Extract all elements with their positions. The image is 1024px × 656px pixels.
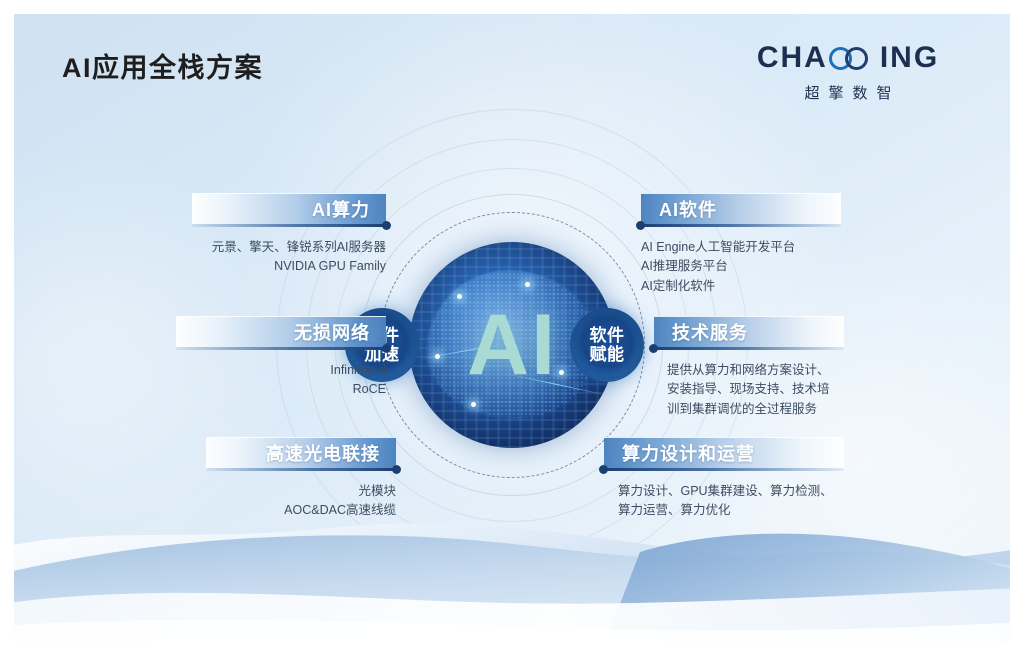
- slide-canvas: AI应用全栈方案 CHA ING 超擎数智 AI 硬件: [0, 0, 1024, 656]
- item-endpoint-dot: [382, 344, 391, 353]
- item-ai-compute[interactable]: AI算力 元景、擎天、锋锐系列AI服务器 NVIDIA GPU Family: [192, 193, 386, 277]
- desc-line: AI推理服务平台: [641, 257, 841, 276]
- badge-line-1: 软件: [590, 326, 625, 345]
- item-description: InfiniBand RoCE: [176, 361, 386, 400]
- item-underline: [641, 224, 841, 227]
- item-bar[interactable]: 无损网络: [176, 316, 386, 347]
- item-compute-design-operation[interactable]: 算力设计和运营 算力设计、GPU集群建设、算力检测、 算力运营、算力优化: [604, 437, 844, 521]
- item-bar[interactable]: AI算力: [192, 193, 386, 224]
- item-description: AI Engine人工智能开发平台 AI推理服务平台 AI定制化软件: [641, 238, 841, 296]
- desc-line: 算力设计、GPU集群建设、算力检测、: [618, 482, 844, 501]
- page-title: AI应用全栈方案: [62, 46, 263, 85]
- item-bar[interactable]: AI软件: [641, 193, 841, 224]
- infinity-double-circle-icon: [829, 45, 879, 71]
- item-technical-service[interactable]: 技术服务 提供从算力和网络方案设计、 安装指导、现场支持、技术培 训到集群调优的…: [654, 316, 844, 419]
- desc-line: RoCE: [176, 380, 386, 399]
- logo-chinese-name: 超擎数智: [748, 82, 948, 103]
- item-underline: [176, 347, 386, 350]
- spark-node: [457, 294, 462, 299]
- desc-line: 提供从算力和网络方案设计、: [667, 361, 844, 380]
- item-lossless-network[interactable]: 无损网络 InfiniBand RoCE: [176, 316, 386, 400]
- spark-node: [471, 402, 476, 407]
- item-endpoint-dot: [649, 344, 658, 353]
- item-description: 光模块 AOC&DAC高速线缆: [206, 482, 396, 521]
- brand-logo: CHA ING 超擎数智: [748, 42, 948, 103]
- desc-line: InfiniBand: [176, 361, 386, 380]
- item-underline: [654, 347, 844, 350]
- item-bar[interactable]: 算力设计和运营: [604, 437, 844, 468]
- desc-line: 元景、擎天、锋锐系列AI服务器: [192, 238, 386, 257]
- desc-line: AOC&DAC高速线缆: [206, 501, 396, 520]
- item-endpoint-dot: [392, 465, 401, 474]
- item-label: AI软件: [659, 196, 717, 222]
- logo-wordmark: CHA ING: [748, 42, 948, 74]
- item-endpoint-dot: [636, 221, 645, 230]
- desc-line: 训到集群调优的全过程服务: [667, 400, 844, 419]
- wave-dunes-decoration: [0, 496, 1024, 656]
- logo-word-left: CHA: [757, 43, 828, 73]
- item-label: 算力设计和运营: [622, 440, 755, 466]
- item-label: 无损网络: [294, 319, 370, 345]
- desc-line: 算力运营、算力优化: [618, 501, 844, 520]
- item-underline: [206, 468, 396, 471]
- badge-line-2: 赋能: [590, 345, 625, 364]
- item-endpoint-dot: [382, 221, 391, 230]
- spark-node: [525, 282, 530, 287]
- desc-line: AI Engine人工智能开发平台: [641, 238, 841, 257]
- desc-line: AI定制化软件: [641, 277, 841, 296]
- item-description: 提供从算力和网络方案设计、 安装指导、现场支持、技术培 训到集群调优的全过程服务: [667, 361, 844, 419]
- item-ai-software[interactable]: AI软件 AI Engine人工智能开发平台 AI推理服务平台 AI定制化软件: [641, 193, 841, 296]
- item-description: 元景、擎天、锋锐系列AI服务器 NVIDIA GPU Family: [192, 238, 386, 277]
- item-bar[interactable]: 技术服务: [654, 316, 844, 347]
- item-underline: [192, 224, 386, 227]
- item-underline: [604, 468, 844, 471]
- item-bar[interactable]: 高速光电联接: [206, 437, 396, 468]
- desc-line: 光模块: [206, 482, 396, 501]
- item-label: 高速光电联接: [266, 440, 380, 466]
- item-label: AI算力: [312, 196, 370, 222]
- item-high-speed-optical-connection[interactable]: 高速光电联接 光模块 AOC&DAC高速线缆: [206, 437, 396, 521]
- item-label: 技术服务: [672, 319, 748, 345]
- item-endpoint-dot: [599, 465, 608, 474]
- logo-word-right: ING: [880, 43, 939, 73]
- desc-line: NVIDIA GPU Family: [192, 257, 386, 276]
- badge-software-empowerment[interactable]: 软件 赋能: [570, 308, 644, 382]
- desc-line: 安装指导、现场支持、技术培: [667, 380, 844, 399]
- item-description: 算力设计、GPU集群建设、算力检测、 算力运营、算力优化: [618, 482, 844, 521]
